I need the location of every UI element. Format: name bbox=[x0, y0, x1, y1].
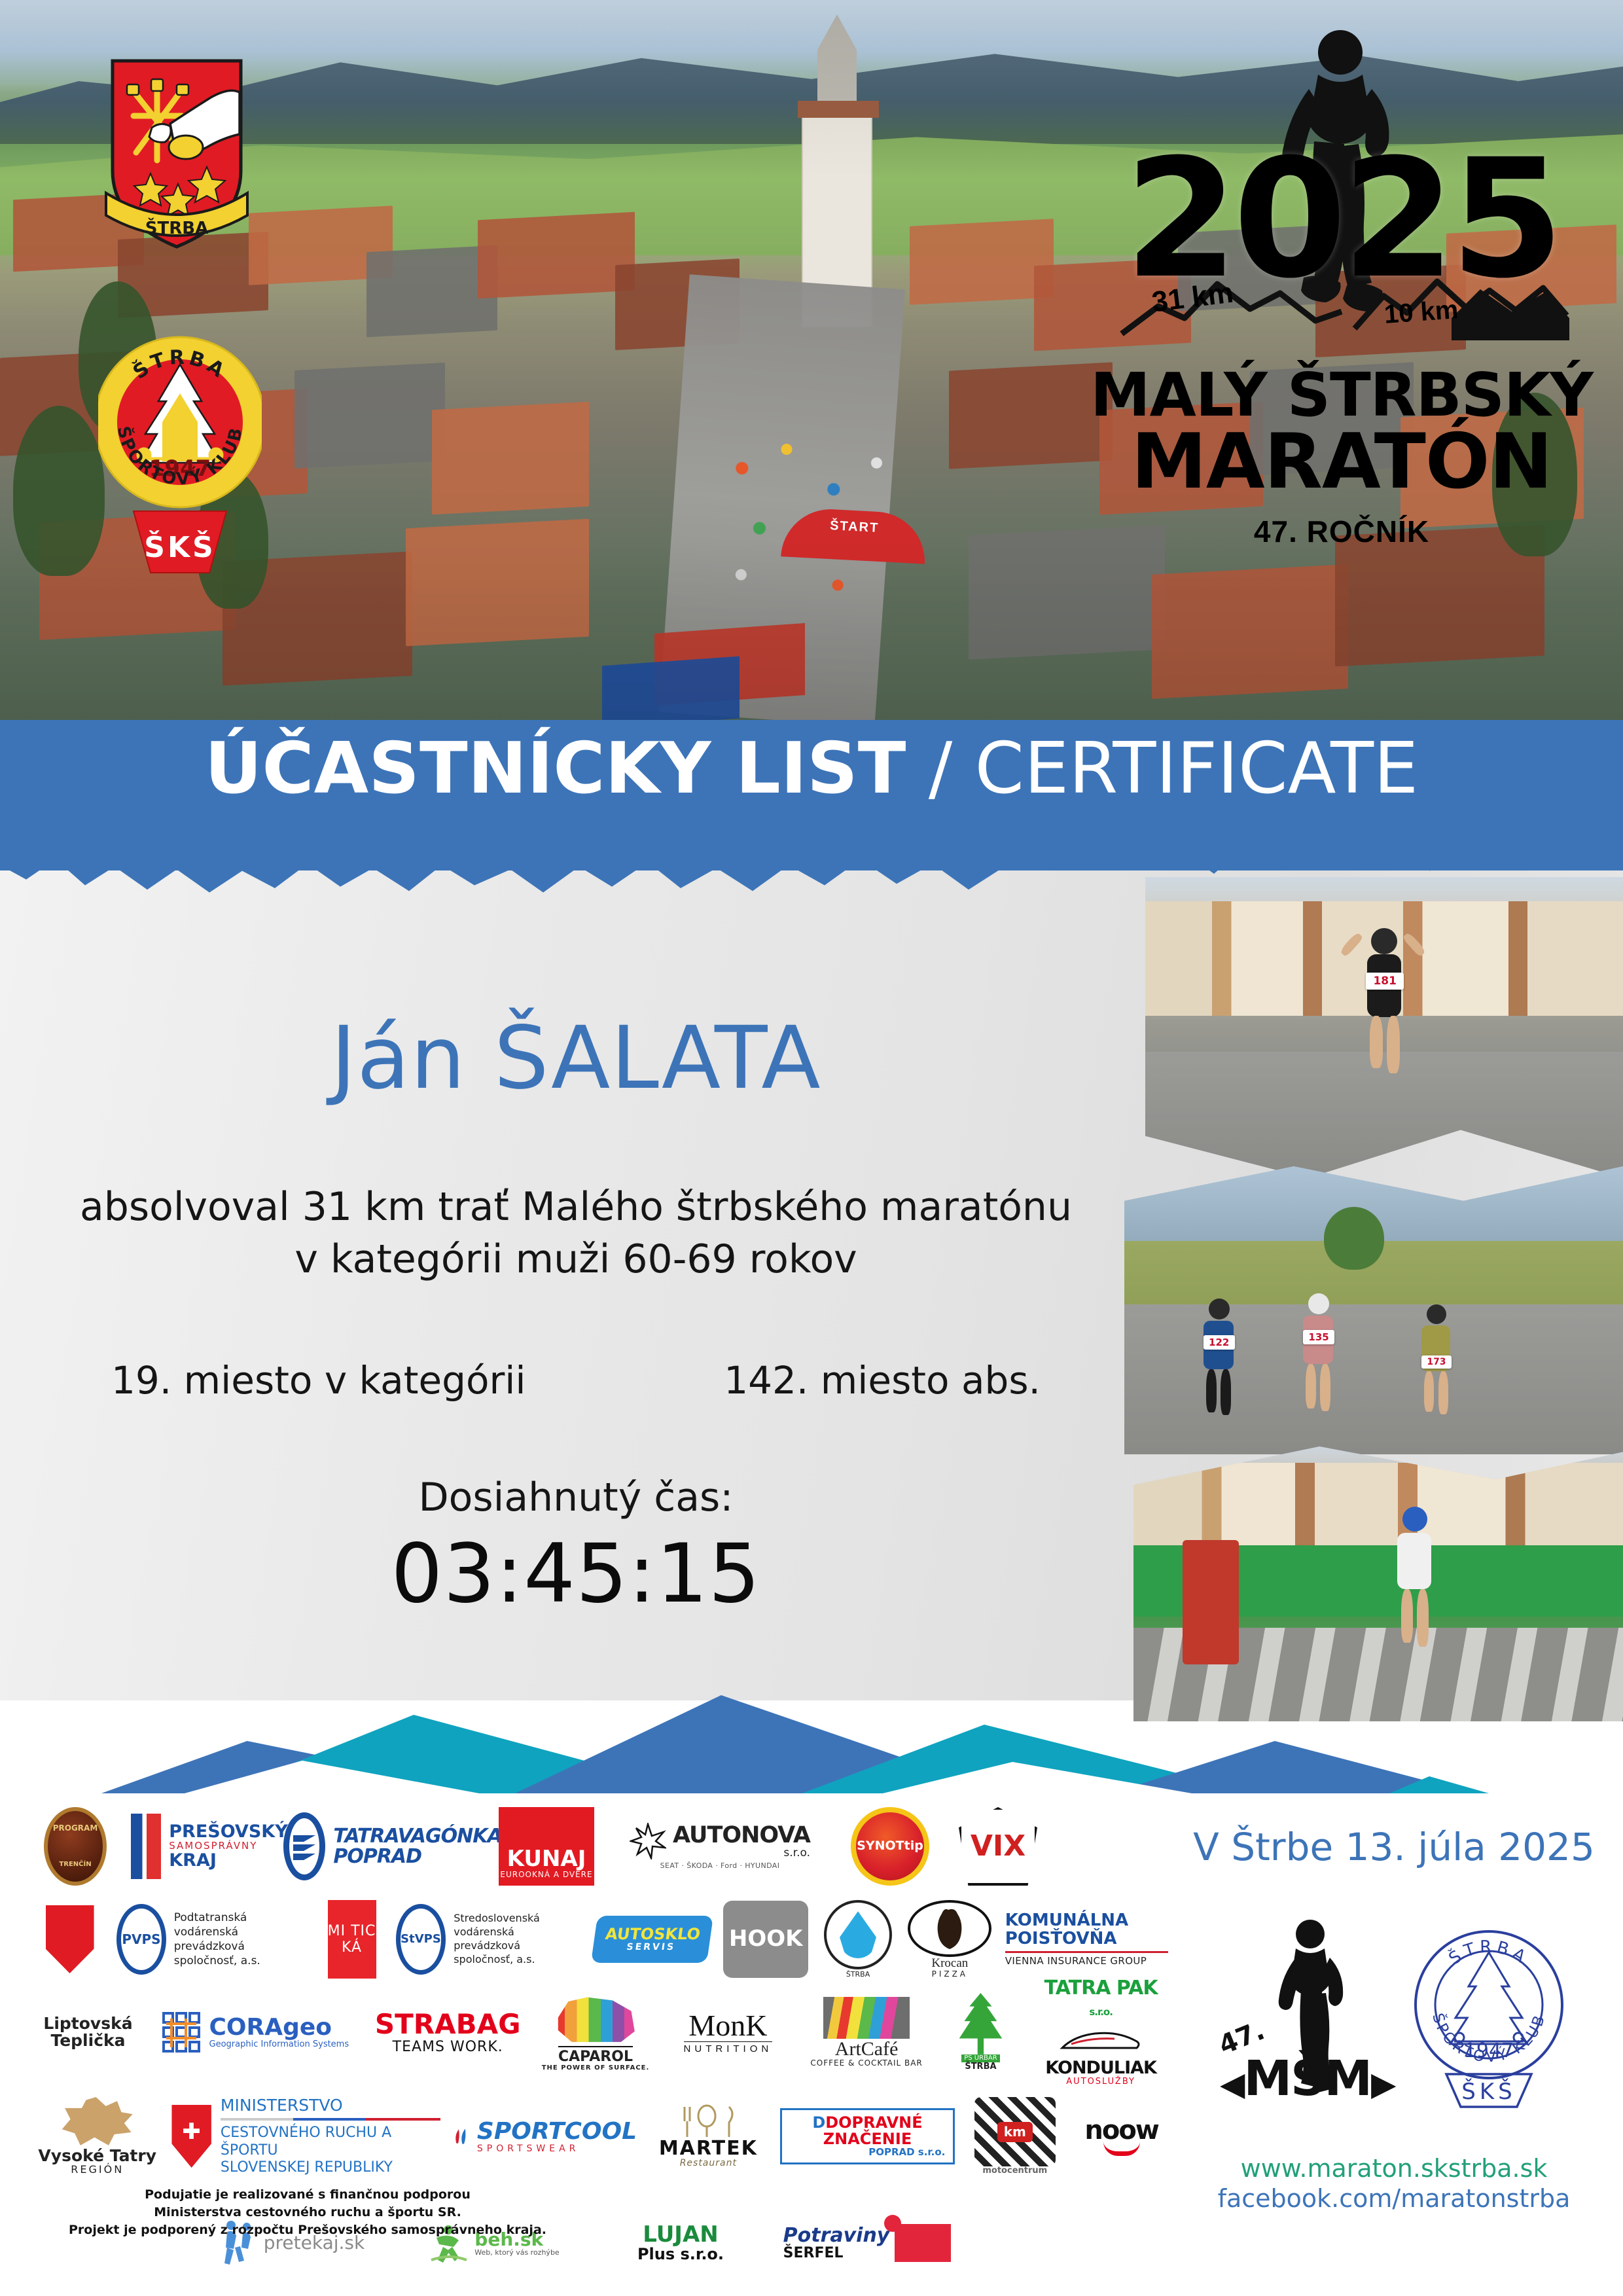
strba-ribbon-text: ŠTRBA bbox=[145, 217, 208, 238]
photo-collage: 181 122 135 173 bbox=[1106, 870, 1623, 1721]
sponsor-label: KONDULIAK bbox=[1045, 2059, 1156, 2077]
svg-text:ŠTRBA: ŠTRBA bbox=[1445, 1937, 1533, 1969]
sponsor-label: Krocan bbox=[931, 1957, 968, 1970]
sponsor-autonova: AUTONOVA s.r.o. SEAT · ŠKODA · Ford · HY… bbox=[612, 1807, 828, 1886]
sponsor-label: KUNAJ bbox=[507, 1848, 586, 1871]
sks-abbr: ŠKŠ bbox=[144, 529, 215, 564]
sponsor-sublabel: Restaurant bbox=[659, 2159, 758, 2168]
sponsor-monk-nutrition: MonK NUTRITION bbox=[664, 1993, 792, 2072]
sponsor-sublabel2: prevádzková spoločnosť, a.s. bbox=[454, 1939, 581, 1967]
sponsor-autosklo: AUTOSKLO SERVIS bbox=[594, 1900, 710, 1979]
sponsor-sublabel: EUROOKNÁ A DVERE bbox=[500, 1871, 592, 1879]
sponsor-brands: SEAT · ŠKODA · Ford · HYUNDAI bbox=[660, 1862, 780, 1870]
description-line2: v kategórii muži 60-69 rokov bbox=[0, 1233, 1152, 1285]
sponsor-label: STRABAG bbox=[375, 2010, 521, 2039]
sponsor-martek: MARTEK Restaurant bbox=[650, 2097, 767, 2176]
footer-emblems: 47. ◀MŠM▶ 1947 ŠTRBA bbox=[1178, 1903, 1610, 2119]
sponsor-sublabel: NUTRITION bbox=[684, 2041, 773, 2054]
caparol-elephant-icon bbox=[553, 1993, 638, 2046]
sponsor-hook: HOOK bbox=[723, 1900, 808, 1979]
funding-disclaimer: Podujatie je realizované s finančnou pod… bbox=[59, 2186, 556, 2239]
distance-10km-label: 10 km bbox=[1383, 295, 1459, 330]
sponsor-sublabel: Web, ktorý vás rozhýbe bbox=[474, 2249, 559, 2257]
sponsor-sublabel2: SLOVENSKEJ REPUBLIKY bbox=[221, 2159, 440, 2176]
website-link[interactable]: www.maraton.skstrba.sk bbox=[1178, 2153, 1610, 2183]
sponsor-artcafe: ArtCafé COFFEE & COCKTAIL BAR bbox=[806, 1993, 928, 2072]
slovak-flag-icon: ✚ bbox=[171, 2105, 211, 2168]
sponsor-sublabel: POPRAD bbox=[333, 1846, 501, 1867]
sponsor-program-trencin: PROGRAM TRENČÍN bbox=[36, 1807, 115, 1886]
sponsor-vix: VIX bbox=[952, 1807, 1044, 1886]
sponsor-label: PVPS bbox=[122, 1933, 160, 1946]
disclaimer-line1: Podujatie je realizované s finančnou pod… bbox=[59, 2186, 556, 2204]
sponsor-label: Vysoké Tatry bbox=[38, 2147, 156, 2164]
sponsor-miticka: MI TIC KÁ bbox=[321, 1900, 383, 1979]
sponsor-label: PROGRAM bbox=[53, 1824, 98, 1833]
sponsor-noow: noow bbox=[1075, 2097, 1168, 2176]
sponsor-label: AUTOSKLO bbox=[604, 1925, 702, 1943]
sponsor-row: PVPS Podtatranská vodárenská prevádzková… bbox=[36, 1893, 1168, 1986]
liptovska-teplicka-crest-icon bbox=[46, 1905, 94, 1973]
sponsor-label: TATRA PAK bbox=[1044, 1977, 1158, 2000]
disclaimer-line2: Ministerstva cestovného ruchu a športu S… bbox=[59, 2204, 556, 2221]
sponsor-motocentrum: km motocentrum bbox=[968, 2097, 1061, 2176]
sponsor-sublabel: Plus s.r.o. bbox=[637, 2246, 724, 2263]
sponsor-sublabel: PIZZA bbox=[932, 1970, 968, 1979]
sponsor-presovsky-kraj: PREŠOVSKÝ SAMOSPRÁVNY KRAJ bbox=[128, 1807, 291, 1886]
sponsor-synottip: SYNOTtip bbox=[841, 1807, 939, 1886]
sponsor-sublabel: THE POWER OF SURFACE. bbox=[542, 2065, 650, 2072]
spruce-tree-icon bbox=[955, 1993, 1006, 2054]
sponsor-stvps: StVPS Stredoslovenská vodárenská prevádz… bbox=[396, 1900, 582, 1979]
certificate-title: ÚČASTNÍCKY LIST / CERTIFICATE bbox=[0, 732, 1623, 806]
sponsor-row: Vysoké Tatry REGIÓN ✚ MINISTERSTVO CESTO… bbox=[36, 2079, 1168, 2194]
sponsor-label: DOPRAVNÉ ZNAČENIE bbox=[823, 2113, 923, 2148]
sponsor-sublabel: s.r.o. bbox=[673, 1848, 810, 1859]
svg-text:ŠPORTOVÝ KLUB: ŠPORTOVÝ KLUB bbox=[1429, 2011, 1549, 2066]
sponsor-sublabel2: prevádzková spoločnosť, a.s. bbox=[174, 1939, 308, 1968]
certificate-description: absolvoval 31 km trať Malého štrbského m… bbox=[0, 1181, 1152, 1286]
sponsor-label: ArtCafé bbox=[835, 2039, 899, 2060]
sponsor-strabag: STRABAG TEAMS WORK. bbox=[368, 1993, 527, 2072]
certificate-body: Ján ŠALATA absolvoval 31 km trať Malého … bbox=[0, 929, 1152, 1621]
sks-stamp: 1947 ŠTRBA ŠPORTOVÝ KLUB ŠKŠ bbox=[1407, 1913, 1571, 2109]
sponsor-label: HOOK bbox=[729, 1928, 803, 1951]
place-absolute: 142. miesto abs. bbox=[724, 1358, 1041, 1403]
sponsor-footer: PROGRAM TRENČÍN PREŠOVSKÝ SAMOSPRÁVNY KR… bbox=[0, 1793, 1623, 2296]
title-en: CERTIFICATE bbox=[975, 728, 1419, 810]
sponsor-ministerstvo: ✚ MINISTERSTVO CESTOVNÉHO RUCHU A ŠPORTU… bbox=[171, 2097, 440, 2176]
race-edition: 47. ROČNÍK bbox=[1080, 514, 1603, 549]
sponsor-label: MonK bbox=[684, 2010, 773, 2041]
photo-bib-number: 122 bbox=[1204, 1335, 1235, 1350]
psk-flag-icon bbox=[131, 1814, 161, 1879]
sponsor-corageo: CORAgeo Geographic Information Systems bbox=[153, 1993, 355, 2072]
sponsor-label: Liptovská bbox=[43, 2015, 132, 2032]
sponsor-label: MARTEK bbox=[659, 2138, 758, 2159]
collage-photo-finish-celebration: 181 bbox=[1145, 877, 1623, 1178]
race-logo: 2025 31 km 10 km MALÝ ŠTRBSKÝ MARATÓN 47… bbox=[1080, 26, 1603, 602]
sponsor-label: MI TIC KÁ bbox=[328, 1923, 376, 1956]
sponsor-sublabel: TEAMS WORK. bbox=[375, 2039, 521, 2054]
sponsor-tatrapak: TATRA PAK s.r.o. KONDULIAK AUTOSLUŽBY bbox=[1033, 1993, 1168, 2072]
artcafe-bars-icon bbox=[823, 1997, 910, 2039]
stamp-bottom-text: ŠPORTOVÝ KLUB bbox=[1429, 2011, 1549, 2066]
sponsor-row: PROGRAM TRENČÍN PREŠOVSKÝ SAMOSPRÁVNY KR… bbox=[36, 1800, 1168, 1893]
sponsor-label: CAPAROL bbox=[558, 2046, 633, 2064]
sponsor-pd-strba: ŠTRBA bbox=[821, 1900, 895, 1979]
race-name-line1: MALÝ ŠTRBSKÝ bbox=[1080, 367, 1603, 424]
sponsor-sublabel: COFFEE & COCKTAIL BAR bbox=[810, 2059, 922, 2068]
time-value: 03:45:15 bbox=[0, 1527, 1152, 1621]
sponsor-lujan: LUJAN Plus s.r.o. bbox=[605, 2204, 756, 2282]
sponsor-sublabel: motocentrum bbox=[982, 2166, 1047, 2176]
sponsor-label: AUTONOVA bbox=[673, 1823, 810, 1848]
sponsor-label: CORAgeo bbox=[209, 2015, 349, 2040]
sponsor-label: KOMUNÁLNA POISŤOVŇA bbox=[1005, 1912, 1168, 1948]
sponsor-label: PREŠOVSKÝ bbox=[169, 1823, 288, 1841]
placement-row: 19. miesto v kategórii 142. miesto abs. bbox=[0, 1358, 1152, 1403]
sponsor-sublabel: ŠTRBA bbox=[846, 1971, 870, 1979]
sponsor-sublabel: Geographic Information Systems bbox=[209, 2040, 349, 2049]
title-sk: ÚČASTNÍCKY LIST bbox=[205, 728, 906, 810]
sponsor-vysoke-tatry: Vysoké Tatry REGIÓN bbox=[36, 2097, 158, 2176]
strba-coat-of-arms: ŠTRBA bbox=[105, 56, 249, 252]
sponsor-sportcool: SPORTCOOL SPORTSWEAR bbox=[454, 2097, 637, 2176]
sponsor-krocan-pizza: Krocan PIZZA bbox=[908, 1900, 992, 1979]
sponsor-caparol: CAPAROL THE POWER OF SURFACE. bbox=[541, 1993, 651, 2072]
disclaimer-line3: Projekt je podporený z rozpočtu Prešovsk… bbox=[59, 2221, 556, 2239]
place-in-category: 19. miesto v kategórii bbox=[111, 1358, 526, 1403]
msm-abbr: ◀MŠM▶ bbox=[1220, 2051, 1395, 2107]
footer-right-column: V Štrbe 13. júla 2025 47. ◀MŠM▶ bbox=[1178, 1806, 1610, 2214]
contact-links: www.maraton.skstrba.sk facebook.com/mara… bbox=[1178, 2153, 1610, 2214]
sponsor-sublabel: TRENČÍN bbox=[59, 1861, 91, 1869]
sponsor-sublabel: Teplička bbox=[50, 2032, 125, 2049]
facebook-link[interactable]: facebook.com/maratonstrba bbox=[1178, 2183, 1610, 2214]
sponsor-label: SYNOTtip bbox=[857, 1840, 923, 1853]
sponsor-ps-urbar-strba: PS URBÁR ŠTRBA bbox=[941, 1993, 1021, 2072]
sponsor-sublabel: SERVIS bbox=[603, 1943, 700, 1952]
sponsor-label: TATRAVAGÓNKA bbox=[333, 1826, 501, 1847]
sponsor-sublabel: Stredoslovenská vodárenská bbox=[454, 1912, 581, 1939]
sponsor-sublabel: SPORTSWEAR bbox=[477, 2144, 637, 2154]
sponsor-komunalna-poistovna: KOMUNÁLNA POISŤOVŇA VIENNA INSURANCE GRO… bbox=[1005, 1900, 1168, 1979]
vysoke-tatry-icon bbox=[62, 2097, 133, 2147]
sponsor-sublabel: s.r.o. bbox=[1089, 2006, 1113, 2018]
race-name-line2: MARATÓN bbox=[1080, 425, 1603, 498]
sponsor-liptovska-teplicka-label: Liptovská Teplička bbox=[36, 1993, 140, 2072]
sponsor-sublabel2: KRAJ bbox=[169, 1852, 288, 1870]
sks-club-emblem: 1947 ŠTRBA ŠPORTOVÝ KLUB ŠKŠ bbox=[98, 324, 262, 579]
sponsor-liptovska-teplicka bbox=[36, 1900, 103, 1979]
sponsor-sublabel: ŠTRBA bbox=[965, 2062, 996, 2072]
sponsor-sublabel: VIENNA INSURANCE GROUP bbox=[1005, 1956, 1168, 1967]
sponsor-sublabel: ŠERFEL bbox=[783, 2246, 890, 2261]
sponsor-sublabel: REGIÓN bbox=[71, 2164, 124, 2176]
sponsor-sublabel: POPRAD s.r.o. bbox=[790, 2147, 946, 2158]
sponsor-label: MINISTERSTVO bbox=[221, 2096, 440, 2115]
sponsor-dopravne-znacenie: DDOPRAVNÉ ZNAČENIE POPRAD s.r.o. bbox=[780, 2097, 955, 2176]
sponsor-sublabel: AUTOSLUŽBY bbox=[1045, 2077, 1156, 2087]
sponsor-sublabel: CESTOVNÉHO RUCHU A ŠPORTU bbox=[221, 2125, 440, 2159]
issue-date: V Štrbe 13. júla 2025 bbox=[1178, 1825, 1610, 1869]
sponsor-label: SPORTCOOL bbox=[477, 2119, 637, 2144]
sponsor-tatravagonka: TATRAVAGÓNKA POPRAD bbox=[304, 1807, 481, 1886]
photo-bib-number: 135 bbox=[1303, 1330, 1334, 1344]
collage-photo-road-runners: 122 135 173 bbox=[1124, 1166, 1623, 1454]
title-separator: / bbox=[906, 728, 974, 810]
sponsor-label: km bbox=[997, 2122, 1033, 2142]
sponsor-label: Potraviny bbox=[783, 2225, 890, 2246]
participant-name: Ján ŠALATA bbox=[0, 1008, 1152, 1109]
msm-edition-logo: 47. ◀MŠM▶ bbox=[1217, 1913, 1368, 2109]
sponsor-label: StVPS bbox=[401, 1933, 441, 1946]
sponsor-pvps: PVPS Podtatranská vodárenská prevádzková… bbox=[116, 1900, 308, 1979]
photo-bib-number: 173 bbox=[1421, 1355, 1452, 1369]
water-drop-icon bbox=[840, 1911, 876, 1958]
sponsor-sublabel: Podtatranská vodárenská bbox=[174, 1910, 308, 1939]
sponsor-kunaj: KUNAJ EUROOKNÁ A DVERE bbox=[494, 1807, 599, 1886]
sponsor-row: Liptovská Teplička CORAgeo Geographic In… bbox=[36, 1986, 1168, 2079]
sponsor-label: VIX bbox=[971, 1831, 1026, 1861]
photo-bib-number: 181 bbox=[1366, 973, 1404, 990]
time-label: Dosiahnutý čas: bbox=[0, 1475, 1152, 1520]
sponsor-potraviny-serfel: Potraviny ŠERFEL bbox=[769, 2204, 965, 2282]
tatravagonka-icon bbox=[283, 1812, 325, 1880]
stamp-top-text: ŠTRBA bbox=[1445, 1937, 1533, 1969]
sponsor-label: LUJAN bbox=[637, 2223, 724, 2247]
description-line1: absolvoval 31 km trať Malého štrbského m… bbox=[0, 1181, 1152, 1233]
stamp-abbr: ŠKŠ bbox=[1461, 2078, 1516, 2105]
